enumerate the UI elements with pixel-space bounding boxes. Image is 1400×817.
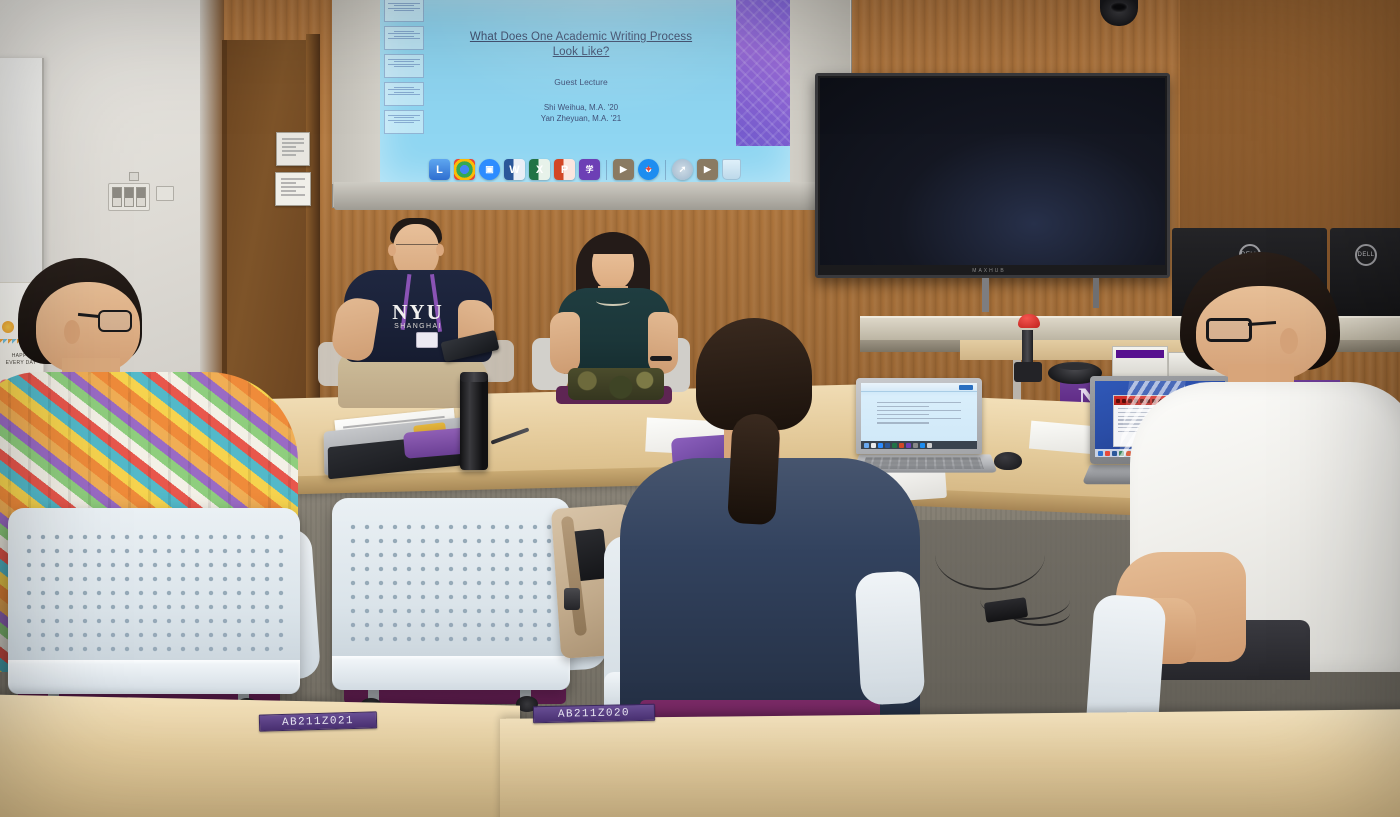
student-left-ear [64, 320, 80, 344]
presenter-id-badge [416, 332, 438, 348]
word-icon[interactable]: W [504, 159, 525, 180]
light-switch-3[interactable] [136, 187, 146, 207]
slide-presenter-1: Shi Weihua, M.A. '20 [541, 102, 622, 113]
dock-separator-1 [606, 160, 607, 180]
wall-sensor [129, 172, 139, 181]
presenter2-arm-left [550, 312, 580, 374]
slide-thumb-3[interactable] [384, 54, 424, 78]
presenter-glasses-icon [396, 244, 438, 253]
chair-2-perforations [346, 520, 556, 648]
student-center-ponytail [727, 413, 781, 525]
slide-thumb-5[interactable] [384, 110, 424, 134]
slide-content: What Does One Academic Writing Process L… [428, 0, 734, 144]
thermos-lid [460, 372, 488, 382]
necklace [596, 296, 630, 306]
chrome-icon[interactable] [454, 159, 475, 180]
trash-icon[interactable] [722, 159, 741, 180]
safari-icon[interactable]: ✦ [638, 159, 659, 180]
presenter2-bangs [590, 236, 636, 254]
document-camera-arm [1022, 330, 1033, 366]
chair-3-armrest[interactable] [855, 570, 926, 705]
display-mount-left [982, 278, 989, 312]
slide-title: What Does One Academic Writing Process L… [456, 30, 706, 60]
slide-thumb-1[interactable] [384, 0, 424, 22]
video-recorder-icon[interactable]: ▶ [697, 159, 718, 180]
wall-display-brand: MAXHUB [963, 268, 1015, 274]
student-left-glasses-icon [98, 310, 132, 332]
desk-tag-left: AB211Z021 [259, 711, 377, 731]
screen-border-left [332, 0, 382, 184]
projected-slide-surface: What Does One Academic Writing Process L… [380, 0, 790, 182]
slide-subtitle: Guest Lecture [554, 77, 607, 87]
rocket-launchpad-icon[interactable]: ➚ [672, 159, 693, 180]
shirt-text-nyu: NYU [380, 300, 456, 325]
shirt-text-shanghai: SHANGHAI [380, 323, 456, 330]
light-switch-panel[interactable] [108, 183, 150, 211]
excel-icon[interactable]: X [529, 159, 550, 180]
slide-thumbnail-rail[interactable] [384, 0, 424, 144]
light-switch-1[interactable] [112, 187, 122, 207]
slide-presenter-2: Yan Zheyuan, M.A. '21 [541, 113, 622, 124]
chair-1[interactable] [8, 508, 300, 694]
document-camera-red-cap [1018, 314, 1040, 328]
light-switch-2[interactable] [124, 187, 134, 207]
desk-tag-right: AB211Z020 [533, 704, 655, 724]
slide-thumb-2[interactable] [384, 26, 424, 50]
backpack-clip [564, 588, 580, 610]
macos-dock[interactable]: L ▣ W X P 学 ▶ ✦ ➚ ▶ [380, 159, 790, 180]
camera-app-icon[interactable]: ▶ [613, 159, 634, 180]
presenter-ear-left [388, 244, 396, 256]
wall-display-screen[interactable] [820, 78, 1165, 265]
wall-notice-upper [276, 132, 310, 166]
slide-presenter-names: Shi Weihua, M.A. '20 Yan Zheyuan, M.A. '… [541, 102, 622, 124]
chair-1-perforations [22, 530, 286, 652]
dock-separator-2 [665, 160, 666, 180]
wall-notice-lower [275, 172, 311, 206]
speakerphone-grille [1059, 363, 1091, 370]
student-right-ear [1280, 328, 1298, 354]
launchpad-finder-icon[interactable]: L [429, 159, 450, 180]
powerpoint-icon[interactable]: P [554, 159, 575, 180]
student-right-glasses-icon [1206, 318, 1252, 342]
slide-decoration-graphic [736, 0, 790, 146]
chinese-app-icon[interactable]: 学 [579, 159, 600, 180]
document-camera-base [1014, 362, 1042, 382]
slide-thumb-4[interactable] [384, 82, 424, 106]
display-mount-right [1093, 278, 1099, 308]
zoom-icon[interactable]: ▣ [479, 159, 500, 180]
foreground-table-right [500, 709, 1400, 817]
chair-2[interactable] [332, 498, 570, 690]
chair-1-lower-back [8, 660, 300, 694]
chair-2-lower-back [332, 656, 570, 690]
foreground-table-left [0, 694, 520, 817]
black-thermos [460, 374, 488, 470]
classroom-photo: HAPPY EVERY DAY What Does On [0, 0, 1400, 817]
wall-plate-blank [156, 186, 174, 201]
projection-screen-bottom-bar [334, 182, 848, 210]
wireless-mouse[interactable] [994, 452, 1022, 470]
